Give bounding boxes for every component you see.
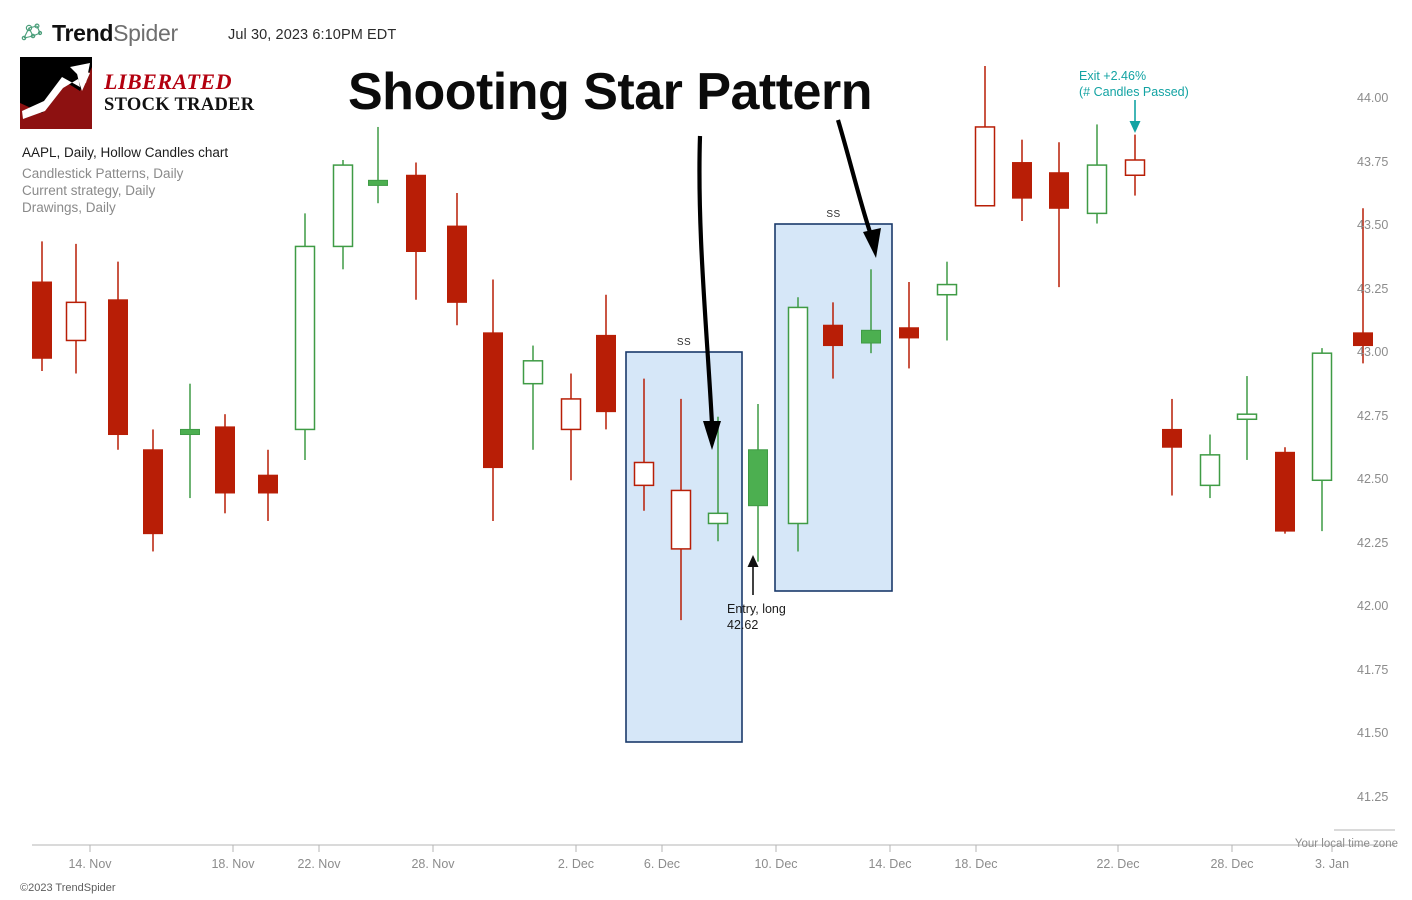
candle: [938, 262, 957, 341]
candle: [259, 450, 278, 521]
x-axis-tick-label: 3. Jan: [1315, 857, 1349, 871]
candle: [448, 193, 467, 325]
x-axis-tick-label: 22. Nov: [297, 857, 340, 871]
candle: [181, 384, 200, 498]
exit-label: Exit +2.46%: [1079, 68, 1189, 84]
y-axis-tick-label: 42.75: [1357, 409, 1388, 423]
y-axis-tick-label: 41.25: [1357, 790, 1388, 804]
candle: [296, 213, 315, 460]
y-axis-tick-label: 42.00: [1357, 599, 1388, 613]
x-axis-tick-label: 2. Dec: [558, 857, 594, 871]
entry-annotation: Entry, long 42.62: [727, 601, 786, 633]
x-axis-tick-label: 14. Nov: [68, 857, 111, 871]
x-axis-tick-label: 6. Dec: [644, 857, 680, 871]
y-axis-tick-label: 41.50: [1357, 726, 1388, 740]
y-axis-tick-label: 41.75: [1357, 663, 1388, 677]
x-axis-tick-label: 18. Nov: [211, 857, 254, 871]
candle: [33, 241, 52, 371]
x-axis-ticks: [90, 845, 1332, 852]
candle: [1313, 348, 1332, 531]
y-axis-tick-label: 44.00: [1357, 91, 1388, 105]
candle: [1088, 124, 1107, 223]
y-axis-tick-label: 43.25: [1357, 282, 1388, 296]
candle: [369, 127, 388, 203]
entry-long-marker[interactable]: [748, 555, 759, 595]
timezone-note: Your local time zone: [1295, 838, 1398, 850]
entry-price: 42.62: [727, 617, 786, 633]
candle: [484, 279, 503, 520]
y-axis-tick-label: 42.50: [1357, 472, 1388, 486]
candle: [789, 297, 808, 551]
entry-label: Entry, long: [727, 601, 786, 617]
y-axis-tick-label: 43.00: [1357, 345, 1388, 359]
x-axis-tick-label: 18. Dec: [954, 857, 997, 871]
candle: [597, 295, 616, 430]
pattern-zone-label: SS: [826, 209, 840, 220]
x-axis-tick-label: 14. Dec: [868, 857, 911, 871]
pattern-zone-label: SS: [677, 337, 691, 348]
x-axis-tick-label: 22. Dec: [1096, 857, 1139, 871]
copyright-text: ©2023 TrendSpider: [20, 882, 116, 894]
candle: [144, 429, 163, 551]
candle: [407, 163, 426, 300]
y-axis-tick-label: 43.75: [1357, 155, 1388, 169]
x-axis-tick-label: 28. Dec: [1210, 857, 1253, 871]
candle: [67, 244, 86, 374]
y-axis-tick-label: 43.50: [1357, 218, 1388, 232]
candle: [1276, 447, 1295, 533]
candle: [1163, 399, 1182, 496]
candlestick-plot: [0, 0, 1412, 900]
candle: [109, 262, 128, 450]
candle: [1013, 140, 1032, 221]
candle: [900, 282, 919, 368]
exit-annotation: Exit +2.46% (# Candles Passed): [1079, 68, 1189, 100]
candle: [562, 374, 581, 481]
candle: [216, 414, 235, 513]
y-axis-tick-label: 42.25: [1357, 536, 1388, 550]
candle: [1201, 435, 1220, 499]
candle: [976, 66, 995, 206]
candle: [749, 404, 768, 562]
exit-signal-marker[interactable]: [1130, 100, 1141, 133]
exit-sublabel: (# Candles Passed): [1079, 84, 1189, 100]
x-axis-tick-label: 10. Dec: [754, 857, 797, 871]
candle: [334, 160, 353, 269]
candle: [1050, 142, 1069, 287]
candle: [1238, 376, 1257, 460]
x-axis-tick-label: 28. Nov: [411, 857, 454, 871]
candle: [524, 346, 543, 450]
candle: [1126, 135, 1145, 196]
